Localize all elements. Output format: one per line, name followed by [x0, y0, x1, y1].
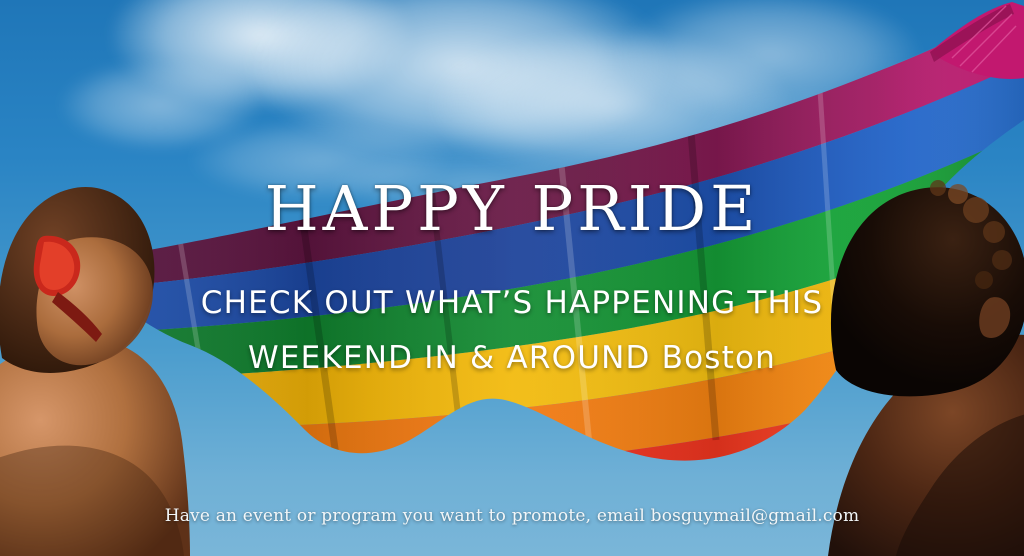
page-title: HAPPY PRIDE — [0, 172, 1024, 245]
pride-banner-image: HAPPY PRIDE CHECK OUT WHAT’S HAPPENING T… — [0, 0, 1024, 556]
subtitle-line-2: WEEKEND IN & AROUND Boston — [0, 340, 1024, 376]
text-overlay: HAPPY PRIDE CHECK OUT WHAT’S HAPPENING T… — [0, 0, 1024, 556]
subtitle-line-1: CHECK OUT WHAT’S HAPPENING THIS — [0, 285, 1024, 321]
promo-caption: Have an event or program you want to pro… — [0, 506, 1024, 526]
